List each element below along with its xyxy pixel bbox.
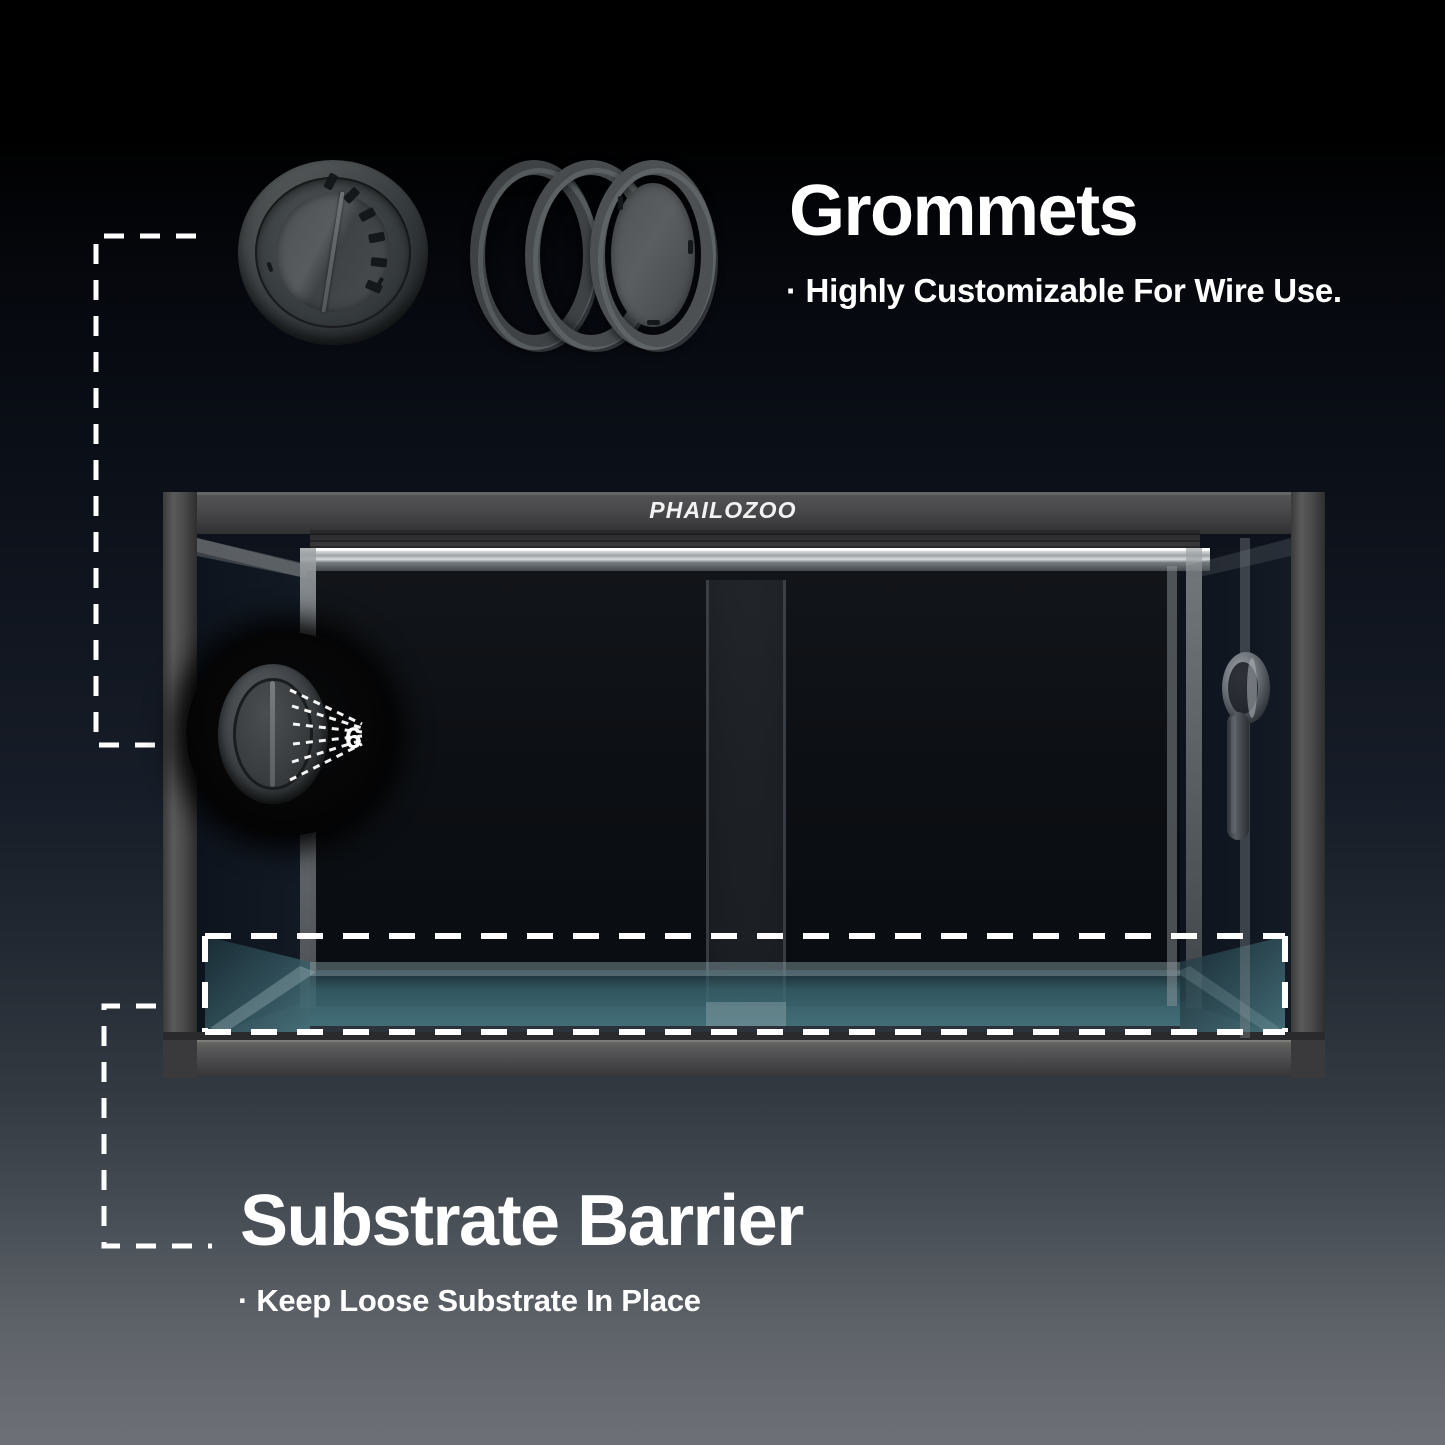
- infographic-canvas: Grommets · Highly Customizable For Wire …: [0, 0, 1445, 1445]
- tank-corner-bottom-right: [1291, 1040, 1325, 1078]
- door-edge-right: [1167, 566, 1177, 1006]
- tank-top-cap-highlight: [163, 492, 1325, 495]
- tank-top-rail-underside: [300, 562, 1210, 571]
- tank-top-rail-specular: [300, 548, 1210, 551]
- tank-corner-bottom-left: [163, 1040, 197, 1078]
- substrate-bullet: · Keep Loose Substrate In Place: [238, 1283, 701, 1319]
- door-handle-lever: [1227, 712, 1249, 840]
- magnified-grommet: [218, 664, 328, 804]
- tank-bottom-rail: [163, 1040, 1325, 1076]
- divider-foot: [706, 1002, 786, 1026]
- substrate-barrier-top-edge: [310, 962, 1180, 976]
- tank-divider-edge-right: [783, 580, 786, 1010]
- magnified-grommet-slit: [270, 681, 275, 787]
- grommet-count-label: 6: [345, 722, 362, 756]
- door-handle-rosette-highlight: [1247, 658, 1257, 718]
- tank-divider-edge-left: [706, 580, 709, 1010]
- tank-bottom-rail-highlight: [163, 1040, 1325, 1042]
- tank-post-right-outer: [1291, 492, 1325, 1072]
- tank-center-divider: [706, 580, 786, 1010]
- tank-post-left-outer: [163, 492, 197, 1072]
- door-handle-lever-highlight: [1231, 716, 1236, 834]
- brand-logo: PHAILOZOO: [649, 497, 797, 523]
- substrate-title: Substrate Barrier: [240, 1185, 803, 1257]
